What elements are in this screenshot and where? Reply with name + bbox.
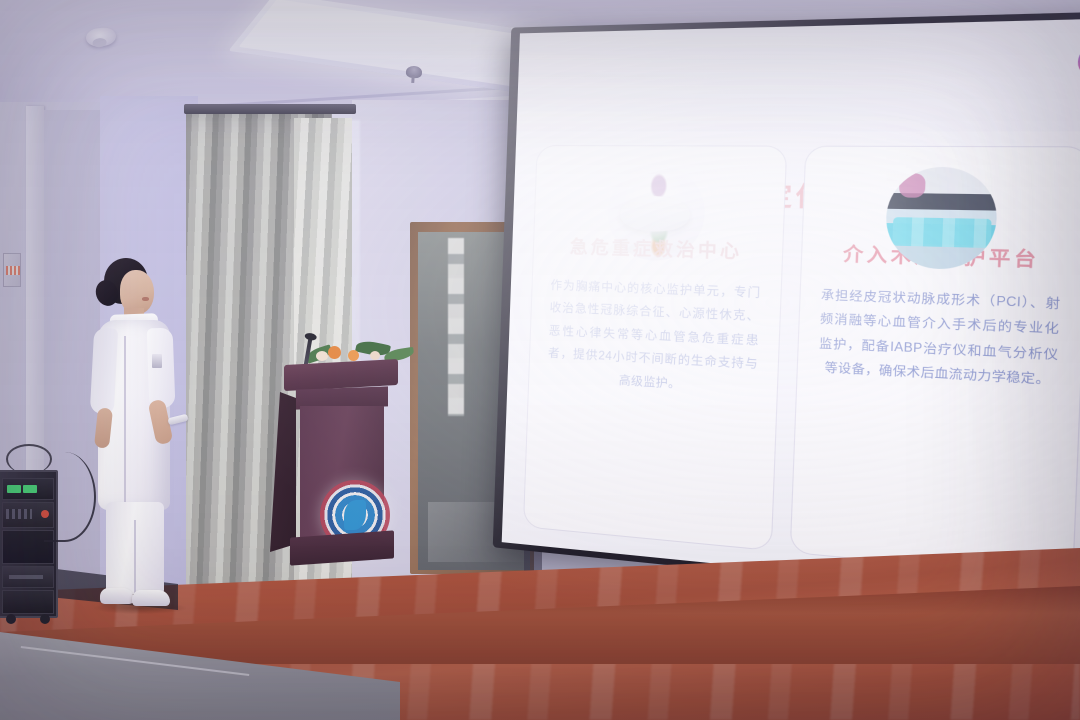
presenter[interactable] xyxy=(72,258,192,620)
speaking-podium[interactable] xyxy=(286,362,396,564)
card-1-heading: 急危重症救治中心 xyxy=(570,234,743,265)
slide-card-2[interactable]: 介入术后监护平台 承担经皮冠状动脉成形术（PCI）、射频消融等心血管介入手术后的… xyxy=(791,147,1080,579)
rack-unit-blank xyxy=(2,590,54,614)
presenter-sleeve-left xyxy=(90,327,118,414)
presenter-trouser-seam xyxy=(134,520,136,596)
card-2-body: 承担经皮冠状动脉成形术（PCI）、射频消融等心血管介入手术后的专业化监护，配备I… xyxy=(818,284,1061,394)
presenter-shoe-right xyxy=(132,590,170,606)
slide-card-1[interactable]: 急危重症救治中心 作为胸痛中心的核心监护单元，专门收治急性冠脉综合征、心源性休克… xyxy=(524,146,786,550)
flower-bloom xyxy=(348,350,359,361)
ceiling-spotlight-icon xyxy=(406,65,423,78)
presenter-id-badge xyxy=(152,354,162,368)
podium-body xyxy=(300,406,384,540)
slide-header-area: 驻马 ZHUMA xyxy=(516,17,1080,132)
card-1-body: 作为胸痛中心的核心监护单元，专门收治急性冠脉综合征、心源性休克、恶性心律失常等心… xyxy=(547,275,761,401)
rack-unit-player[interactable] xyxy=(2,566,54,588)
rack-casters xyxy=(6,614,16,624)
flower-bloom xyxy=(316,351,328,361)
presenter-shoe-left xyxy=(100,588,134,604)
presenter-coat-seam xyxy=(124,336,126,508)
presentation-screen[interactable]: 驻马 ZHUMA 心脏监护室功能定位 急危重症救治中心 作为胸痛中心的核心监护单… xyxy=(493,10,1080,615)
curtain-rod xyxy=(184,104,356,114)
slide-canvas: 心脏监护室功能定位 急危重症救治中心 作为胸痛中心的核心监护单元，专门收治急性冠… xyxy=(502,131,1080,607)
podium-base xyxy=(290,530,394,565)
electrical-box xyxy=(3,253,21,287)
room-scene: 驻马 ZHUMA 心脏监护室功能定位 急危重症救治中心 作为胸痛中心的核心监护单… xyxy=(0,0,1080,720)
slide-card-row: 急危重症救治中心 作为胸痛中心的核心监护单元，专门收治急性冠脉综合征、心源性休克… xyxy=(524,146,1080,587)
presentation-clicker[interactable] xyxy=(167,414,188,426)
door-reflection xyxy=(448,238,464,416)
flower-bloom xyxy=(328,346,341,359)
presenter-sleeve-right xyxy=(147,328,176,409)
flower-bloom xyxy=(370,351,380,360)
